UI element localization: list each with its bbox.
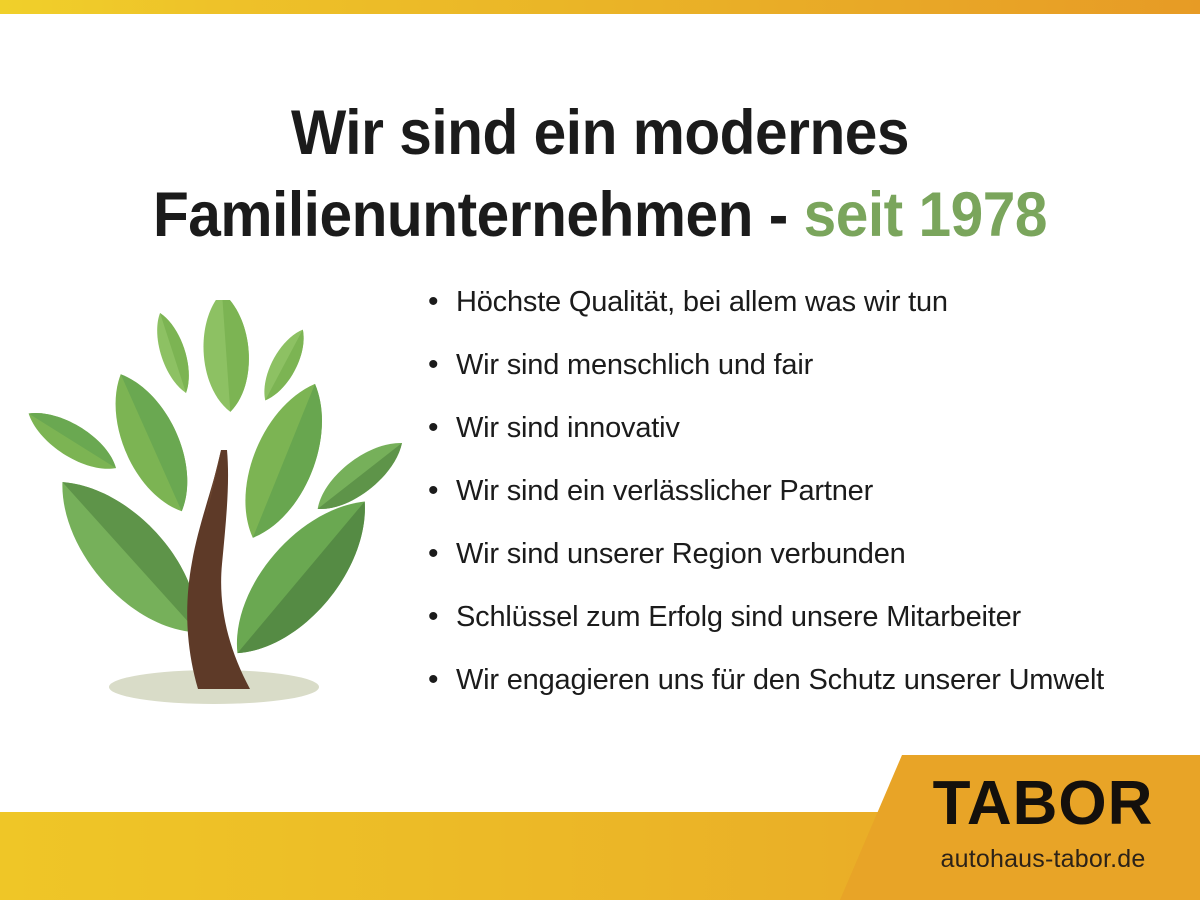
list-item: • Wir sind unserer Region verbunden [428,537,1188,600]
leaf-lower-right [210,479,391,676]
leaf-far-left [20,400,124,481]
list-item: • Schlüssel zum Erfolg sind unsere Mitar… [428,600,1188,663]
bullet-marker-icon: • [428,476,456,506]
bullet-marker-icon: • [428,413,456,443]
list-item-label: Wir sind menschlich und fair [456,348,813,382]
bullet-marker-icon: • [428,602,456,632]
list-item: • Wir sind innovativ [428,411,1188,474]
list-item-label: Wir engagieren uns für den Schutz unsere… [456,663,1104,697]
list-item: • Höchste Qualität, bei allem was wir tu… [428,285,1188,348]
leaf-top-small-left [149,309,198,396]
headline-line-1: Wir sind ein modernes [291,98,909,168]
list-item-label: Wir sind ein verlässlicher Partner [456,474,873,508]
slide-root: Wir sind ein modernesFamilienunternehmen… [0,0,1200,900]
list-item: • Wir engagieren uns für den Schutz unse… [428,663,1188,726]
list-item-label: Höchste Qualität, bei allem was wir tun [456,285,948,319]
values-list: • Höchste Qualität, bei allem was wir tu… [428,285,1188,726]
bullet-marker-icon: • [428,350,456,380]
list-item-label: Wir sind innovativ [456,411,680,445]
leaf-top-center [200,300,253,413]
tree-illustration [18,300,418,720]
brand-wordmark: TABOR [898,768,1188,840]
page-title: Wir sind ein modernesFamilienunternehmen… [42,92,1158,256]
headline-line-2-main: Familienunternehmen - [153,180,804,250]
tree-icon [18,300,418,720]
list-item-label: Schlüssel zum Erfolg sind unsere Mitarbe… [456,600,1021,634]
bullet-marker-icon: • [428,665,456,695]
headline-accent-year: seit 1978 [804,180,1047,250]
bullet-marker-icon: • [428,287,456,317]
logo-inner: TABOR autohaus-tabor.de [840,752,1200,900]
list-item: • Wir sind ein verlässlicher Partner [428,474,1188,537]
logo-panel: TABOR autohaus-tabor.de [840,752,1200,900]
top-accent-bar [0,0,1200,14]
bullet-marker-icon: • [428,539,456,569]
list-item-label: Wir sind unserer Region verbunden [456,537,906,571]
tree-trunk [187,450,250,689]
brand-website-url: autohaus-tabor.de [898,844,1188,874]
list-item: • Wir sind menschlich und fair [428,348,1188,411]
